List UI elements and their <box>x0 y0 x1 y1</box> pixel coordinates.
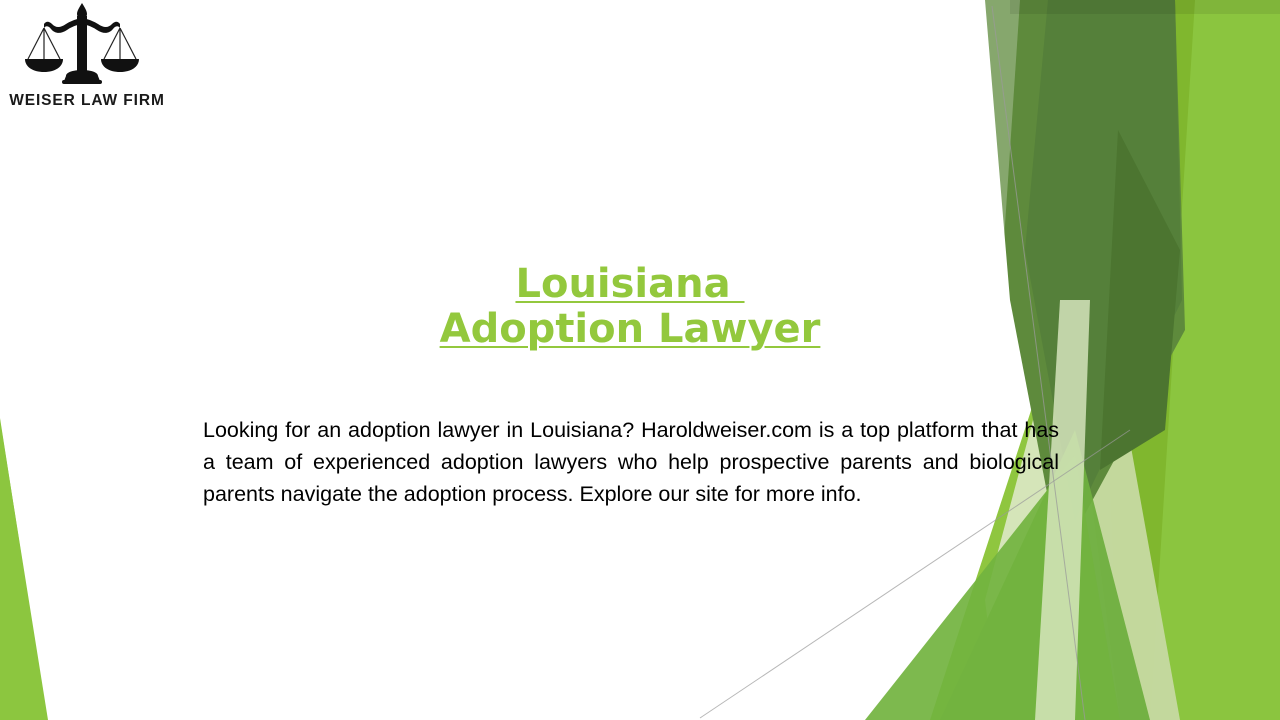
deepest-green-accent <box>1100 130 1180 470</box>
right-lime-base <box>930 0 1280 720</box>
title-line-2: Adoption Lawyer <box>200 307 1060 352</box>
slide-canvas: WEISER LAW FIRM Louisiana Adoption Lawye… <box>0 0 1280 720</box>
bottom-left-green-wedge-2 <box>0 424 46 720</box>
pale-green-wedge-lower <box>1012 330 1180 720</box>
right-bright-green-column <box>1090 0 1280 720</box>
company-logo: WEISER LAW FIRM <box>8 2 168 120</box>
bottom-left-green-triangle <box>0 420 48 720</box>
title-line-1: Louisiana <box>200 262 1060 307</box>
scales-of-justice-icon <box>22 2 142 90</box>
right-green-band <box>1150 0 1280 720</box>
hairline-diagonal-upper <box>992 6 1085 720</box>
page-title: Louisiana Adoption Lawyer <box>200 262 1060 352</box>
logo-wordmark: WEISER LAW FIRM <box>8 92 166 110</box>
light-sliver-top-left <box>978 0 1020 300</box>
pale-narrow-sliver <box>1035 300 1090 720</box>
very-pale-green-wedge <box>985 300 1120 720</box>
bottom-left-green-wedge <box>0 418 47 720</box>
top-dark-strip <box>1010 0 1280 14</box>
decorative-background-art <box>0 0 1280 720</box>
body-paragraph: Looking for an adoption lawyer in Louisi… <box>203 414 1059 510</box>
